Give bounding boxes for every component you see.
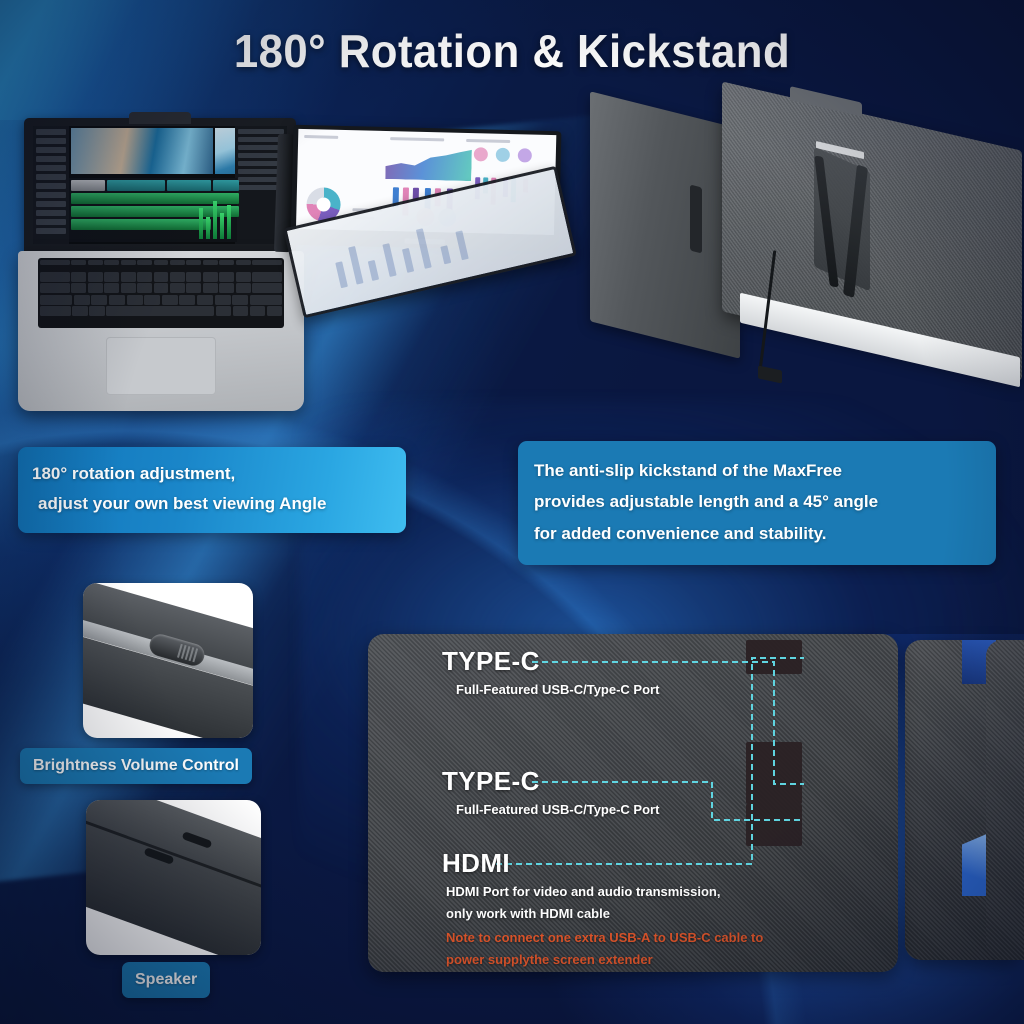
label-brightness-volume-control: Brightness Volume Control [20, 748, 252, 784]
port-cutout-typec-2 [746, 804, 802, 846]
laptop-hinge-notch [129, 112, 191, 124]
port-desc-hdmi-line1: HDMI Port for video and audio transmissi… [446, 884, 720, 899]
caption-rotation-line2: adjust your own best viewing Angle [32, 489, 392, 519]
caption-rotation-line1: 180° rotation adjustment, [32, 459, 392, 489]
editor-left-toolbar [33, 126, 69, 244]
brightness-wheel-thumbnail [83, 583, 253, 738]
port-subtitle-typec-1: Full-Featured USB-C/Type-C Port [456, 682, 659, 697]
editor-preview-a [71, 128, 213, 174]
caption-kickstand: The anti-slip kickstand of the MaxFree p… [518, 441, 996, 565]
port-note-hdmi-line2: power supplythe screen extender [446, 952, 653, 967]
kickstand-photo [590, 100, 1020, 420]
port-title-typec-1: TYPE-C [442, 646, 540, 677]
caption-kickstand-line1: The anti-slip kickstand of the MaxFree [534, 455, 980, 486]
port-title-typec-2: TYPE-C [442, 766, 540, 797]
caption-rotation: 180° rotation adjustment, adjust your ow… [18, 447, 406, 533]
speaker-thumbnail [86, 800, 261, 955]
ports-diagram-panel: TYPE-C Full-Featured USB-C/Type-C Port T… [368, 634, 898, 972]
cable-plug [758, 365, 782, 383]
port-note-hdmi-line1: Note to connect one extra USB-A to USB-C… [446, 930, 763, 945]
port-desc-hdmi-line2: only work with HDMI cable [446, 906, 610, 921]
caption-kickstand-line2: provides adjustable length and a 45° ang… [534, 486, 980, 517]
port-title-hdmi: HDMI [442, 848, 510, 879]
port-cutout-typec-1 [746, 742, 802, 804]
wing-port-slot [690, 185, 702, 254]
port-cutout-hdmi [746, 640, 802, 674]
device-edge-panel-c [986, 640, 1024, 960]
product-infographic: 180° Rotation & Kickstand [0, 0, 1024, 1024]
laptop-lid [24, 118, 296, 253]
extender-side-wing [590, 91, 740, 358]
laptop-keyboard [38, 258, 284, 328]
laptop-screen-video-editor [33, 126, 287, 244]
port-subtitle-typec-2: Full-Featured USB-C/Type-C Port [456, 802, 659, 817]
page-title: 180° Rotation & Kickstand [26, 24, 999, 78]
label-speaker: Speaker [122, 962, 210, 998]
laptop-trackpad [106, 337, 216, 395]
caption-kickstand-line3: for added convenience and stability. [534, 518, 980, 549]
laptop-base [18, 251, 304, 411]
editor-timeline [69, 178, 237, 242]
laptop-with-extender-photo [18, 118, 304, 418]
